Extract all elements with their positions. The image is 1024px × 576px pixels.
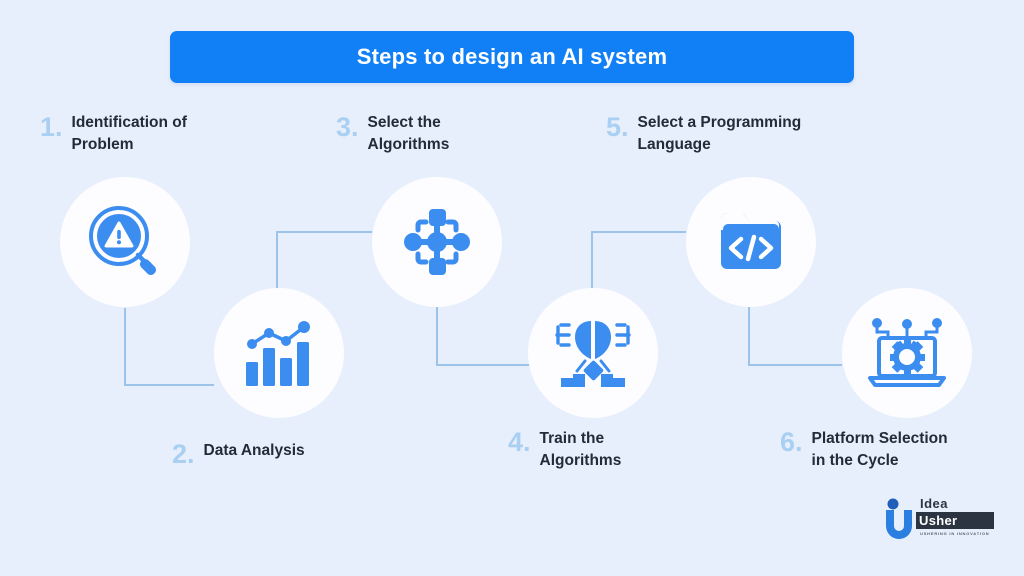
step-circle-6[interactable]: [842, 288, 972, 418]
step-text-5: Select a Programming Language: [638, 112, 802, 157]
step-label-4: 4. Train the Algorithms: [508, 428, 621, 473]
bar-chart-trend-icon: [242, 316, 316, 390]
infographic-canvas: Steps to design an AI system 1. Identifi…: [0, 0, 1024, 576]
logo-word-usher-bar: Usher: [916, 512, 994, 529]
code-folder-icon: [715, 209, 787, 275]
step-number-4: 4.: [508, 429, 531, 456]
connector-2-3: [277, 232, 372, 289]
step-label-3: 3. Select the Algorithms: [336, 112, 449, 157]
step-circle-1[interactable]: [60, 177, 190, 307]
step-label-5: 5. Select a Programming Language: [606, 112, 801, 157]
step-label-1: 1. Identification of Problem: [40, 112, 187, 157]
algorithm-nodes-icon: [401, 206, 473, 278]
step-circle-4[interactable]: [528, 288, 658, 418]
connector-1-2: [125, 308, 214, 385]
step-number-5: 5.: [606, 114, 629, 141]
step-text-2: Data Analysis: [204, 440, 305, 462]
logo-u-mark-icon: [882, 498, 916, 540]
brand-logo[interactable]: Idea Usher USHERING IN INNOVATION: [882, 494, 994, 544]
step-text-1: Identification of Problem: [72, 112, 187, 157]
logo-word-usher: Usher: [919, 513, 957, 528]
brain-network-icon: [553, 315, 633, 391]
step-number-6: 6.: [780, 429, 803, 456]
step-text-6: Platform Selection in the Cycle: [812, 428, 948, 473]
step-label-2: 2. Data Analysis: [172, 440, 305, 468]
page-title: Steps to design an AI system: [357, 44, 667, 70]
connector-3-4: [437, 307, 530, 365]
step-label-6: 6. Platform Selection in the Cycle: [780, 428, 948, 473]
logo-word-idea: Idea: [920, 496, 948, 511]
step-number-3: 3.: [336, 114, 359, 141]
step-text-3: Select the Algorithms: [368, 112, 450, 157]
step-text-4: Train the Algorithms: [540, 428, 622, 473]
step-circle-3[interactable]: [372, 177, 502, 307]
step-number-2: 2.: [172, 441, 195, 468]
title-banner: Steps to design an AI system: [170, 31, 854, 83]
magnifier-warning-icon: [86, 203, 164, 281]
laptop-gear-icon: [866, 316, 948, 390]
step-circle-2[interactable]: [214, 288, 344, 418]
step-number-1: 1.: [40, 114, 63, 141]
connector-5-6: [749, 307, 842, 365]
step-circle-5[interactable]: [686, 177, 816, 307]
logo-tagline: USHERING IN INNOVATION: [920, 531, 989, 536]
connector-4-5: [592, 232, 686, 289]
